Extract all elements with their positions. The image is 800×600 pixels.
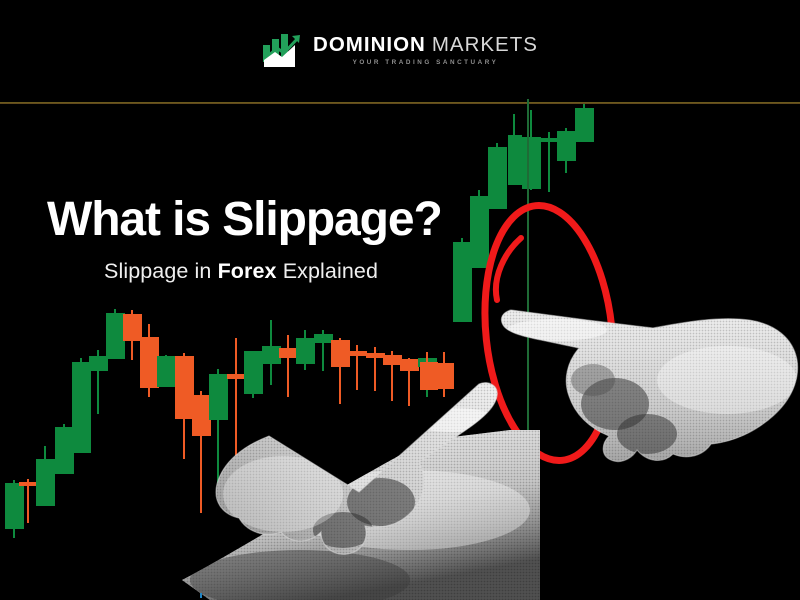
- subtitle-accent: Forex: [218, 259, 277, 283]
- hand-right-fill: [497, 284, 800, 499]
- pointing-hand-left: [213, 374, 533, 600]
- subtitle-prefix: Slippage in: [104, 259, 218, 283]
- hero-text-block: What is Slippage? Slippage in Forex Expl…: [47, 196, 442, 284]
- page-subtitle: Slippage in Forex Explained: [104, 259, 442, 284]
- brand-light: MARKETS: [432, 33, 538, 56]
- brand-tagline: YOUR TRADING SANCTUARY: [313, 59, 538, 66]
- pointing-hand-right: [497, 284, 800, 499]
- site-header: DOMINIONMARKETS YOUR TRADING SANCTUARY: [0, 0, 800, 100]
- brand-bold: DOMINION: [313, 33, 426, 56]
- resistance-line: [0, 102, 800, 104]
- brand-logo[interactable]: DOMINIONMARKETS YOUR TRADING SANCTUARY: [262, 32, 538, 69]
- page-title: What is Slippage?: [47, 196, 442, 245]
- stray-pixel-artifact: [200, 593, 202, 598]
- hand-left-fill: [213, 374, 533, 600]
- subtitle-suffix: Explained: [277, 259, 378, 283]
- dominion-markets-logo-icon: [262, 32, 304, 69]
- brand-name: DOMINIONMARKETS: [313, 35, 538, 56]
- hero-banner: DOMINIONMARKETS YOUR TRADING SANCTUARY W…: [0, 0, 800, 600]
- brand-text: DOMINIONMARKETS YOUR TRADING SANCTUARY: [313, 34, 538, 67]
